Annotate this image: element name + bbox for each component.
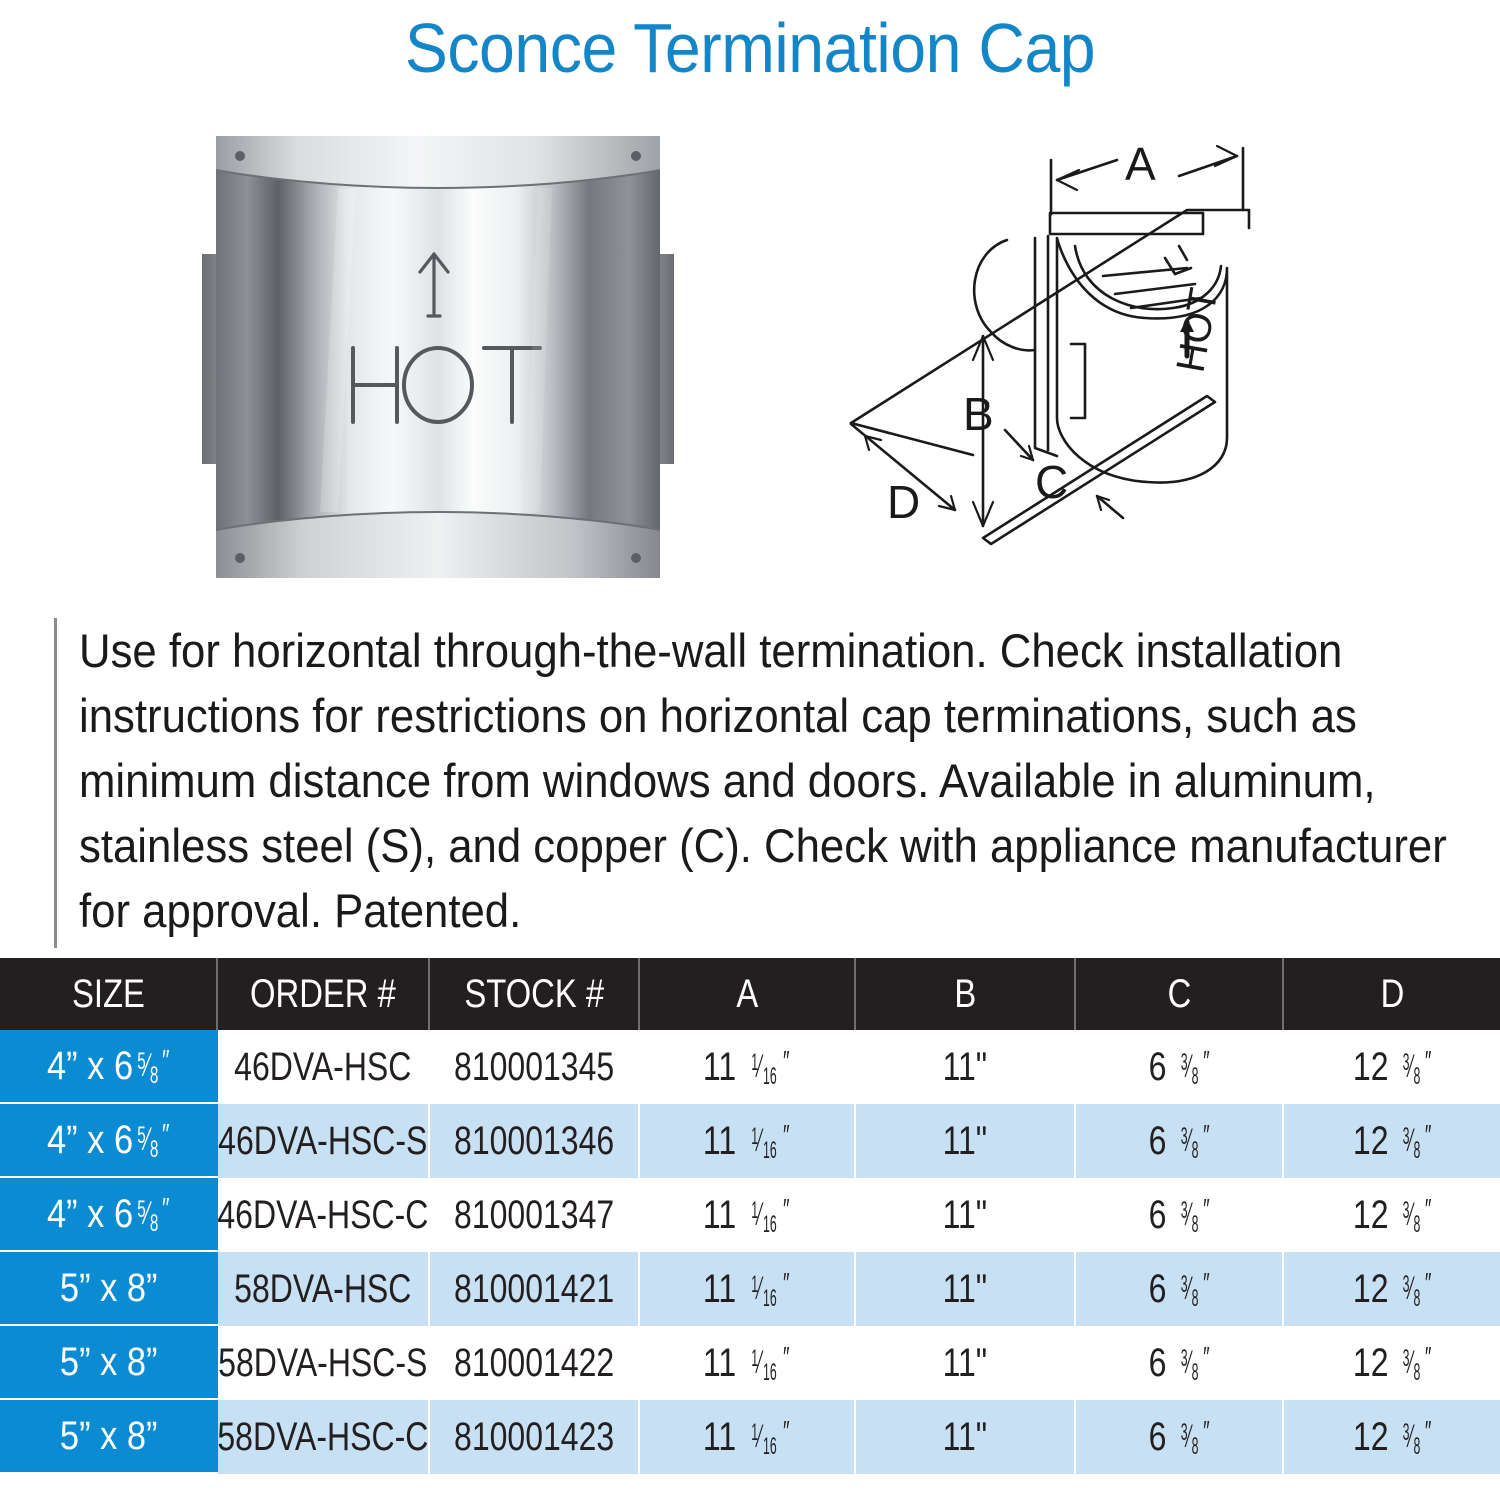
cell-a: 11 1⁄16″ bbox=[640, 1252, 856, 1326]
hero-images: HOT A B C D bbox=[0, 108, 1500, 608]
cell-size: 5” x 8” bbox=[0, 1326, 218, 1400]
cell-b: 11" bbox=[856, 1030, 1076, 1104]
cell-c: 6 3⁄8″ bbox=[1076, 1326, 1284, 1400]
header-stock: STOCK # bbox=[430, 958, 640, 1030]
cell-c: 6 3⁄8″ bbox=[1076, 1252, 1284, 1326]
table-body: 4” x 65⁄8″46DVA-HSC81000134511 1⁄16″11"6… bbox=[0, 1030, 1500, 1474]
cell-a: 11 1⁄16″ bbox=[640, 1178, 856, 1252]
cell-stock: 810001346 bbox=[430, 1104, 640, 1178]
header-order: ORDER # bbox=[218, 958, 430, 1030]
table-row: 4” x 65⁄8″46DVA-HSC81000134511 1⁄16″11"6… bbox=[0, 1030, 1500, 1104]
screw-hole bbox=[235, 553, 245, 563]
dimension-label-c: C bbox=[1035, 456, 1068, 508]
header-size: SIZE bbox=[0, 958, 218, 1030]
cell-a: 11 1⁄16″ bbox=[640, 1104, 856, 1178]
cell-a: 11 1⁄16″ bbox=[640, 1030, 856, 1104]
cell-c: 6 3⁄8″ bbox=[1076, 1178, 1284, 1252]
description-text: Use for horizontal through-the-wall term… bbox=[79, 618, 1483, 943]
cell-size: 4” x 65⁄8″ bbox=[0, 1104, 218, 1178]
cell-size: 5” x 8” bbox=[0, 1252, 218, 1326]
cell-order: 58DVA-HSC-S bbox=[218, 1326, 430, 1400]
page-title: Sconce Termination Cap bbox=[60, 8, 1440, 88]
cell-order: 46DVA-HSC-C bbox=[218, 1178, 430, 1252]
header-d: D bbox=[1284, 958, 1500, 1030]
cell-d: 12 3⁄8″ bbox=[1284, 1178, 1500, 1252]
cell-d: 12 3⁄8″ bbox=[1284, 1326, 1500, 1400]
cell-d: 12 3⁄8″ bbox=[1284, 1252, 1500, 1326]
cell-a: 11 1⁄16″ bbox=[640, 1326, 856, 1400]
table-header: SIZE ORDER # STOCK # A B C D bbox=[0, 958, 1500, 1030]
specification-table: SIZE ORDER # STOCK # A B C D 4” x 65⁄8″4… bbox=[0, 958, 1500, 1474]
screw-hole bbox=[631, 553, 641, 563]
header-b: B bbox=[856, 958, 1076, 1030]
bottom-plate bbox=[216, 512, 660, 578]
table-row: 5” x 8”58DVA-HSC-C81000142311 1⁄16″11"6 … bbox=[0, 1400, 1500, 1474]
cell-stock: 810001422 bbox=[430, 1326, 640, 1400]
cell-d: 12 3⁄8″ bbox=[1284, 1104, 1500, 1178]
table-row: 5” x 8”58DVA-HSC-S81000142211 1⁄16″11"6 … bbox=[0, 1326, 1500, 1400]
cell-size: 5” x 8” bbox=[0, 1400, 218, 1474]
cell-a: 11 1⁄16″ bbox=[640, 1400, 856, 1474]
cell-size: 4” x 65⁄8″ bbox=[0, 1178, 218, 1252]
dimension-drawing: HOT A B C D bbox=[835, 118, 1265, 598]
cell-stock: 810001345 bbox=[430, 1030, 640, 1104]
header-row: SIZE ORDER # STOCK # A B C D bbox=[0, 958, 1500, 1030]
dimension-label-d: D bbox=[887, 476, 920, 528]
cell-d: 12 3⁄8″ bbox=[1284, 1400, 1500, 1474]
screw-hole bbox=[631, 151, 641, 161]
table-row: 5” x 8”58DVA-HSC81000142111 1⁄16″11"6 3⁄… bbox=[0, 1252, 1500, 1326]
dimension-label-b: B bbox=[963, 388, 994, 440]
cell-c: 6 3⁄8″ bbox=[1076, 1104, 1284, 1178]
cell-b: 11" bbox=[856, 1104, 1076, 1178]
table-row: 4” x 65⁄8″46DVA-HSC-C81000134711 1⁄16″11… bbox=[0, 1178, 1500, 1252]
header-a: A bbox=[640, 958, 856, 1030]
cell-order: 46DVA-HSC-S bbox=[218, 1104, 430, 1178]
cell-stock: 810001423 bbox=[430, 1400, 640, 1474]
cell-size: 4” x 65⁄8″ bbox=[0, 1030, 218, 1104]
cell-order: 46DVA-HSC bbox=[218, 1030, 430, 1104]
cell-b: 11" bbox=[856, 1178, 1076, 1252]
product-photo bbox=[188, 126, 688, 588]
spec-sheet-page: Sconce Termination Cap bbox=[0, 0, 1500, 1500]
cell-b: 11" bbox=[856, 1326, 1076, 1400]
cell-b: 11" bbox=[856, 1400, 1076, 1474]
cell-b: 11" bbox=[856, 1252, 1076, 1326]
cell-order: 58DVA-HSC bbox=[218, 1252, 430, 1326]
cell-c: 6 3⁄8″ bbox=[1076, 1400, 1284, 1474]
header-c: C bbox=[1076, 958, 1284, 1030]
cell-stock: 810001347 bbox=[430, 1178, 640, 1252]
screw-hole bbox=[235, 151, 245, 161]
description-block: Use for horizontal through-the-wall term… bbox=[54, 618, 1474, 948]
table-row: 4” x 65⁄8″46DVA-HSC-S81000134611 1⁄16″11… bbox=[0, 1104, 1500, 1178]
cell-d: 12 3⁄8″ bbox=[1284, 1030, 1500, 1104]
drawing-hot-label: HOT bbox=[1169, 285, 1227, 376]
cell-order: 58DVA-HSC-C bbox=[218, 1400, 430, 1474]
cell-stock: 810001421 bbox=[430, 1252, 640, 1326]
dimension-label-a: A bbox=[1125, 138, 1156, 190]
cell-c: 6 3⁄8″ bbox=[1076, 1030, 1284, 1104]
